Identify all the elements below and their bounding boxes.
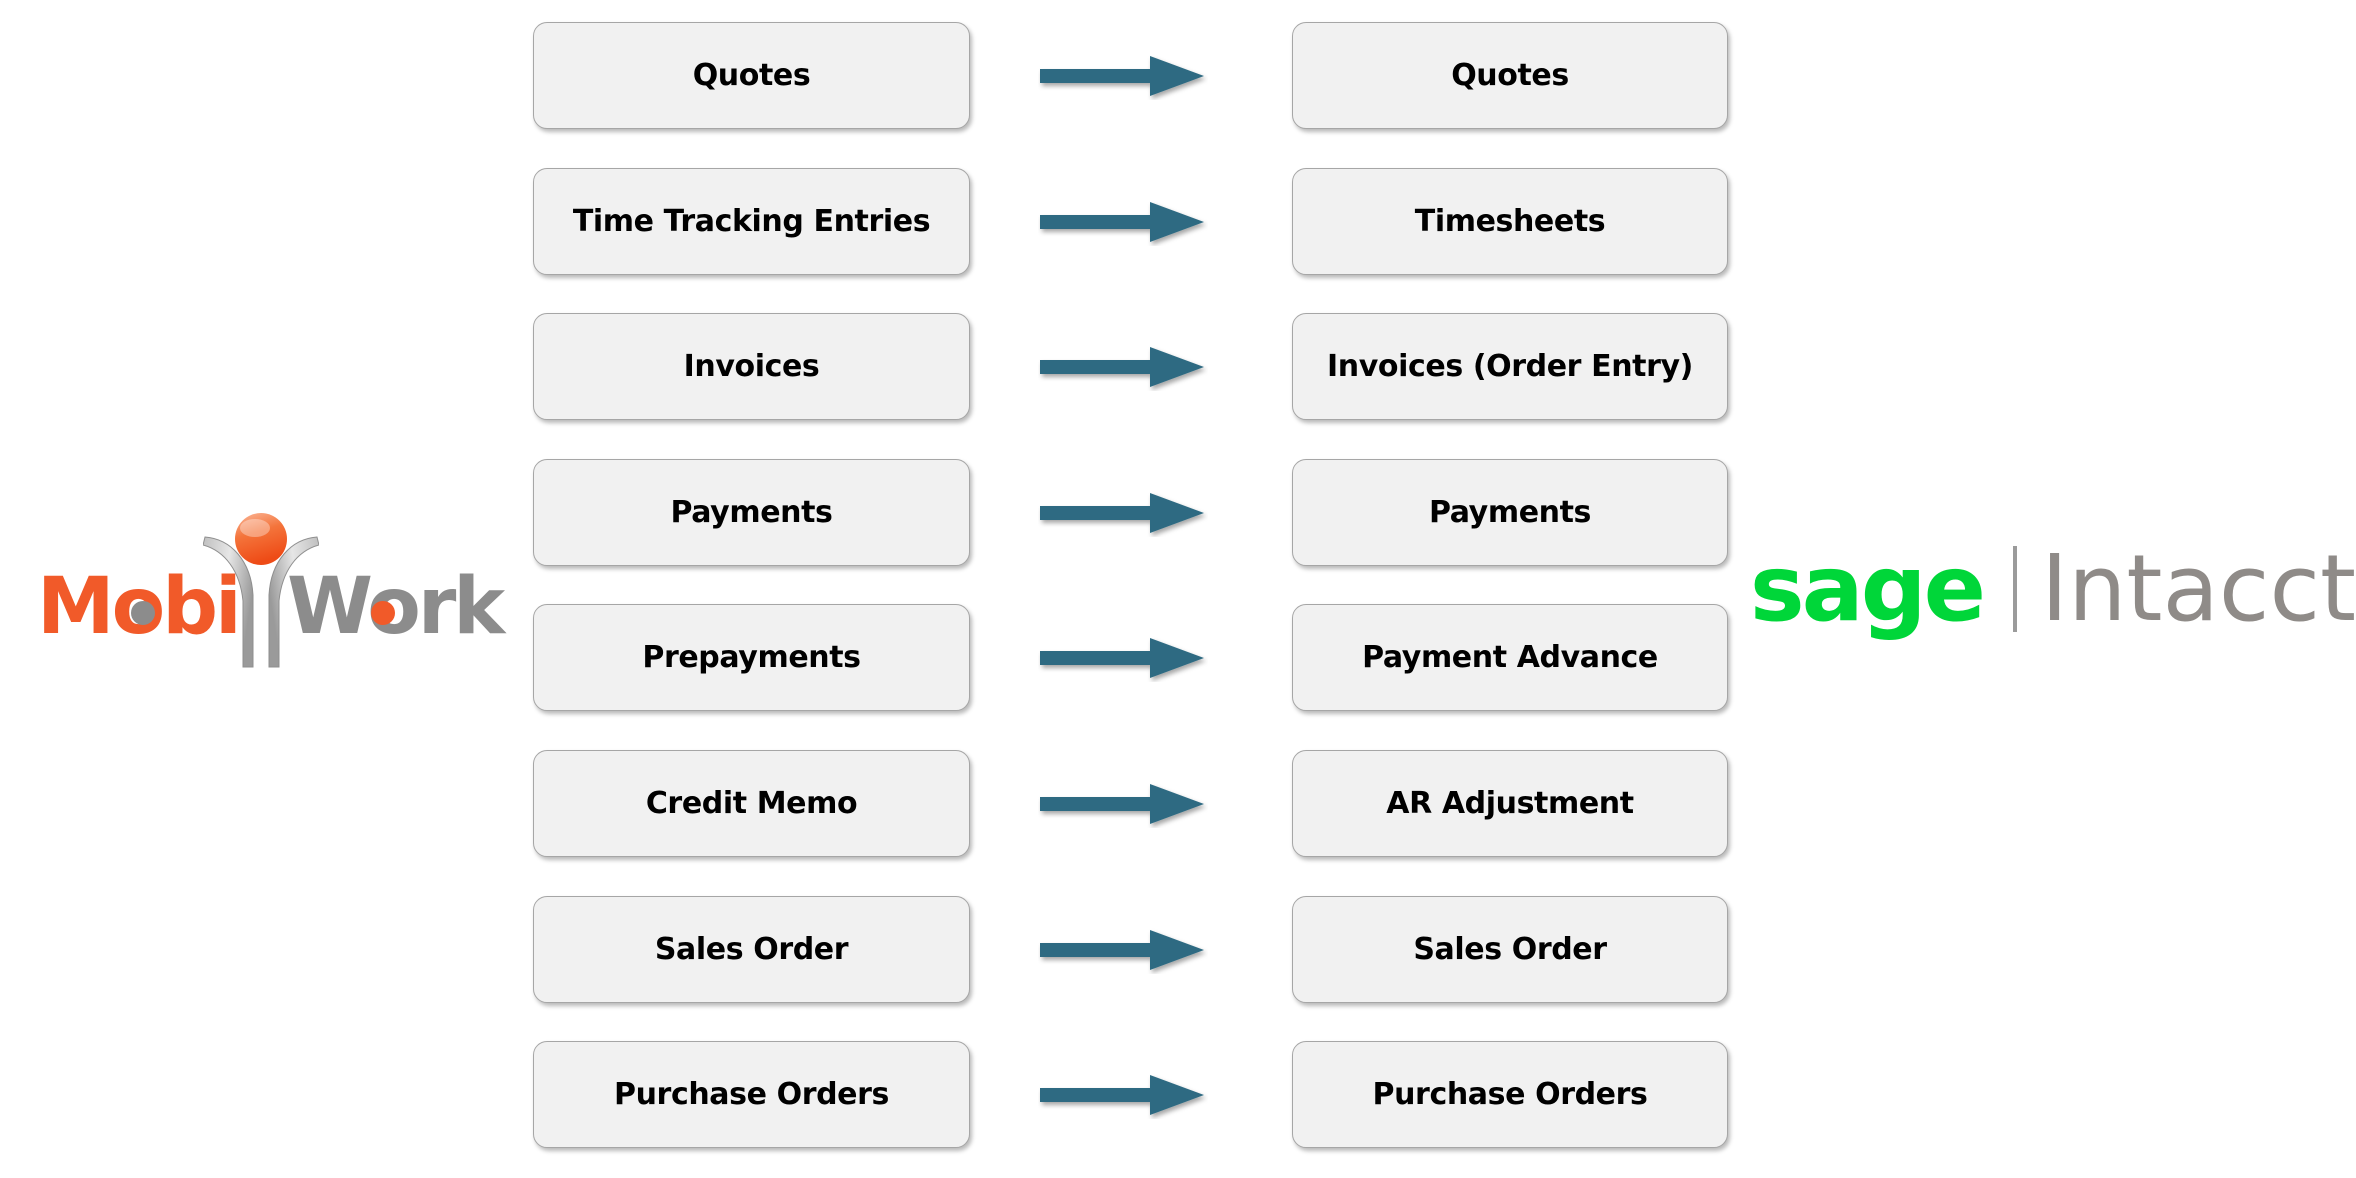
target-node-5[interactable]: Payment Advance — [1292, 604, 1728, 711]
right-arrow-icon — [1038, 343, 1208, 391]
right-arrow-icon — [1038, 780, 1208, 828]
target-node-2[interactable]: Timesheets — [1292, 168, 1728, 275]
target-node-label: Timesheets — [1415, 204, 1605, 239]
source-node-label: Payments — [670, 495, 832, 530]
mapping-row-8: Purchase Orders Purchase Orders — [0, 1041, 2356, 1148]
source-node-1[interactable]: Quotes — [533, 22, 970, 129]
mapping-rows: Quotes Quotes Time Tracking Entries — [0, 0, 2356, 1178]
target-node-label: AR Adjustment — [1386, 786, 1633, 821]
target-node-label: Payment Advance — [1362, 640, 1658, 675]
target-node-label: Payments — [1429, 495, 1591, 530]
right-arrow-icon — [1038, 926, 1208, 974]
mapping-row-1: Quotes Quotes — [0, 22, 2356, 129]
source-node-8[interactable]: Purchase Orders — [533, 1041, 970, 1148]
target-node-label: Invoices (Order Entry) — [1327, 349, 1693, 384]
mapping-row-2: Time Tracking Entries Timesheets — [0, 168, 2356, 275]
mapping-row-5: Prepayments Payment Advance — [0, 604, 2356, 711]
right-arrow-icon — [1038, 634, 1208, 682]
target-node-1[interactable]: Quotes — [1292, 22, 1728, 129]
right-arrow-icon — [1038, 52, 1208, 100]
target-node-label: Sales Order — [1413, 932, 1606, 967]
source-node-label: Prepayments — [642, 640, 860, 675]
source-node-2[interactable]: Time Tracking Entries — [533, 168, 970, 275]
source-node-label: Sales Order — [655, 932, 848, 967]
source-node-3[interactable]: Invoices — [533, 313, 970, 420]
source-node-4[interactable]: Payments — [533, 459, 970, 566]
target-node-6[interactable]: AR Adjustment — [1292, 750, 1728, 857]
source-node-label: Quotes — [693, 58, 811, 93]
target-node-label: Purchase Orders — [1373, 1077, 1648, 1112]
target-node-7[interactable]: Sales Order — [1292, 896, 1728, 1003]
mapping-row-6: Credit Memo AR Adjustment — [0, 750, 2356, 857]
mapping-row-7: Sales Order Sales Order — [0, 896, 2356, 1003]
source-node-label: Credit Memo — [646, 786, 857, 821]
target-node-8[interactable]: Purchase Orders — [1292, 1041, 1728, 1148]
right-arrow-icon — [1038, 1071, 1208, 1119]
right-arrow-icon — [1038, 489, 1208, 537]
source-node-label: Purchase Orders — [614, 1077, 889, 1112]
source-node-7[interactable]: Sales Order — [533, 896, 970, 1003]
source-node-5[interactable]: Prepayments — [533, 604, 970, 711]
mapping-row-3: Invoices Invoices (Order Entry) — [0, 313, 2356, 420]
mapping-row-4: Payments Payments — [0, 459, 2356, 566]
target-node-4[interactable]: Payments — [1292, 459, 1728, 566]
diagram-canvas: Mobi Work sage Intacct Quotes — [0, 0, 2356, 1178]
source-node-label: Invoices — [684, 349, 820, 384]
target-node-label: Quotes — [1451, 58, 1569, 93]
source-node-6[interactable]: Credit Memo — [533, 750, 970, 857]
source-node-label: Time Tracking Entries — [573, 204, 930, 239]
right-arrow-icon — [1038, 198, 1208, 246]
target-node-3[interactable]: Invoices (Order Entry) — [1292, 313, 1728, 420]
